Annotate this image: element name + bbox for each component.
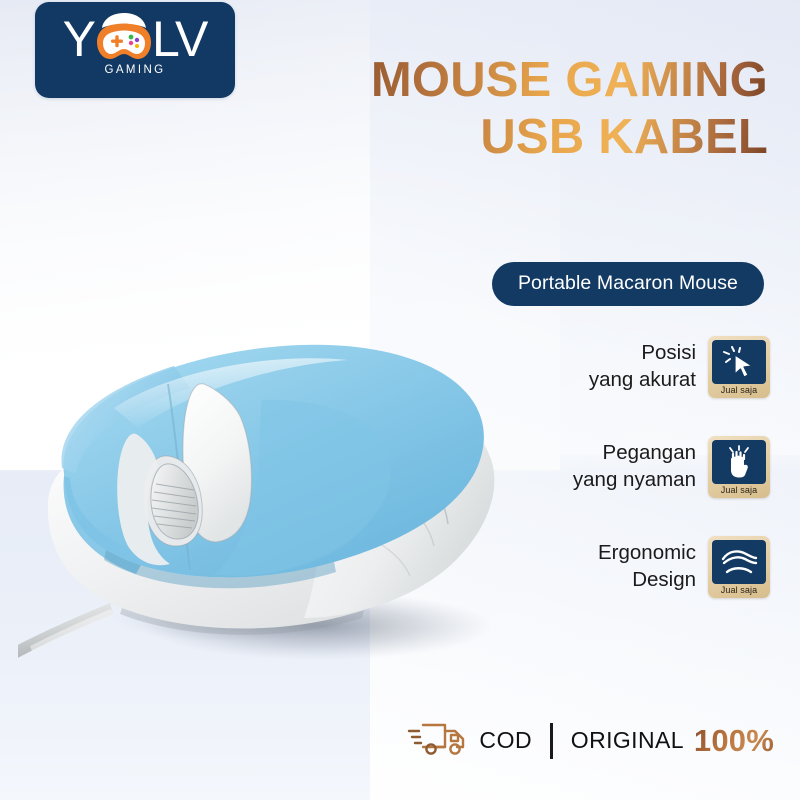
feature-label: Posisi yang akurat (589, 340, 696, 393)
feature-label-line-2: Design (598, 567, 696, 594)
hand-grip-icon (712, 440, 766, 484)
feature-list: Posisi yang akurat Jual saja (510, 336, 770, 636)
delivery-truck-icon (407, 718, 469, 763)
brand-logo: Y LV GAMING (35, 2, 235, 98)
feature-label-line-2: yang nyaman (573, 467, 696, 494)
feature-label-line-1: Posisi (641, 341, 696, 364)
feature-badge: Jual saja (708, 436, 770, 498)
logo-letters-lv: LV (152, 14, 207, 64)
page-title: MOUSE GAMING USB KABEL (308, 52, 768, 167)
feature-label-line-1: Ergonomic (598, 541, 696, 564)
logo-tagline: GAMING (35, 64, 235, 76)
feature-item-accurate-position: Posisi yang akurat Jual saja (510, 336, 770, 398)
trust-strip: COD ORIGINAL 100% (407, 718, 774, 763)
headline-line-1: MOUSE GAMING (308, 52, 768, 109)
original-label: ORIGINAL (571, 727, 684, 754)
feature-label-line-1: Pegangan (603, 441, 696, 464)
product-subtitle-badge: Portable Macaron Mouse (492, 262, 764, 306)
product-image-mouse (18, 288, 538, 708)
feature-badge: Jual saja (708, 336, 770, 398)
percent-label: 100% (694, 723, 774, 759)
badge-caption: Jual saja (712, 584, 766, 597)
feature-label: Pegangan yang nyaman (573, 440, 696, 493)
badge-caption: Jual saja (712, 484, 766, 497)
feature-badge: Jual saja (708, 536, 770, 598)
cursor-click-icon (712, 340, 766, 384)
cod-label: COD (479, 727, 532, 754)
footer-divider (550, 723, 553, 759)
logo-wordmark: Y LV (35, 10, 235, 68)
product-banner: Y LV GAMING MO (0, 0, 800, 800)
feature-item-comfortable-grip: Pegangan yang nyaman Jual saja (510, 436, 770, 498)
badge-caption: Jual saja (712, 384, 766, 397)
feature-label-line-2: yang akurat (589, 367, 696, 394)
headline-line-2: USB KABEL (308, 109, 768, 166)
gamepad-icon (93, 12, 155, 66)
ergonomic-wave-icon (712, 540, 766, 584)
logo-letter-y: Y (63, 14, 96, 64)
feature-label: Ergonomic Design (598, 540, 696, 593)
feature-item-ergonomic-design: Ergonomic Design Jual saja (510, 536, 770, 598)
